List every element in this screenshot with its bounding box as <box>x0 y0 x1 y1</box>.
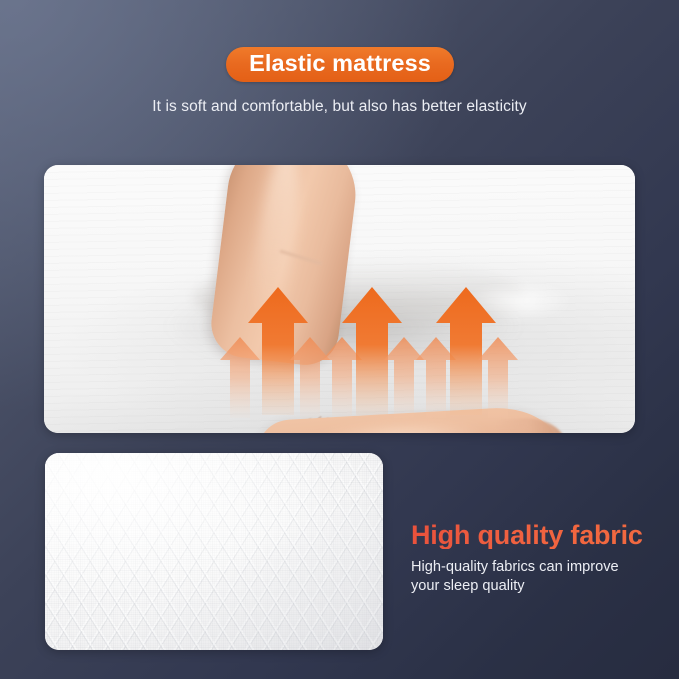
fabric-body: High-quality fabrics can improve your sl… <box>411 558 666 596</box>
fabric-copy-block: High quality fabric High-quality fabrics… <box>411 521 666 596</box>
poster-subtitle: It is soft and comfortable, but also has… <box>0 98 679 116</box>
depression-highlight <box>444 273 594 329</box>
fabric-body-line-2: your sleep quality <box>411 577 666 596</box>
forearm-highlight <box>249 165 303 331</box>
elasticity-photo-panel <box>44 165 635 433</box>
product-poster: Elastic mattress It is soft and comforta… <box>0 0 679 679</box>
title-badge-label: Elastic mattress <box>249 52 431 78</box>
fabric-body-line-1: High-quality fabrics can improve <box>411 558 666 577</box>
fabric-photo-panel <box>45 453 383 650</box>
fabric-heading: High quality fabric <box>411 521 666 549</box>
title-badge: Elastic mattress <box>226 47 454 82</box>
fabric-sheen <box>45 453 383 650</box>
